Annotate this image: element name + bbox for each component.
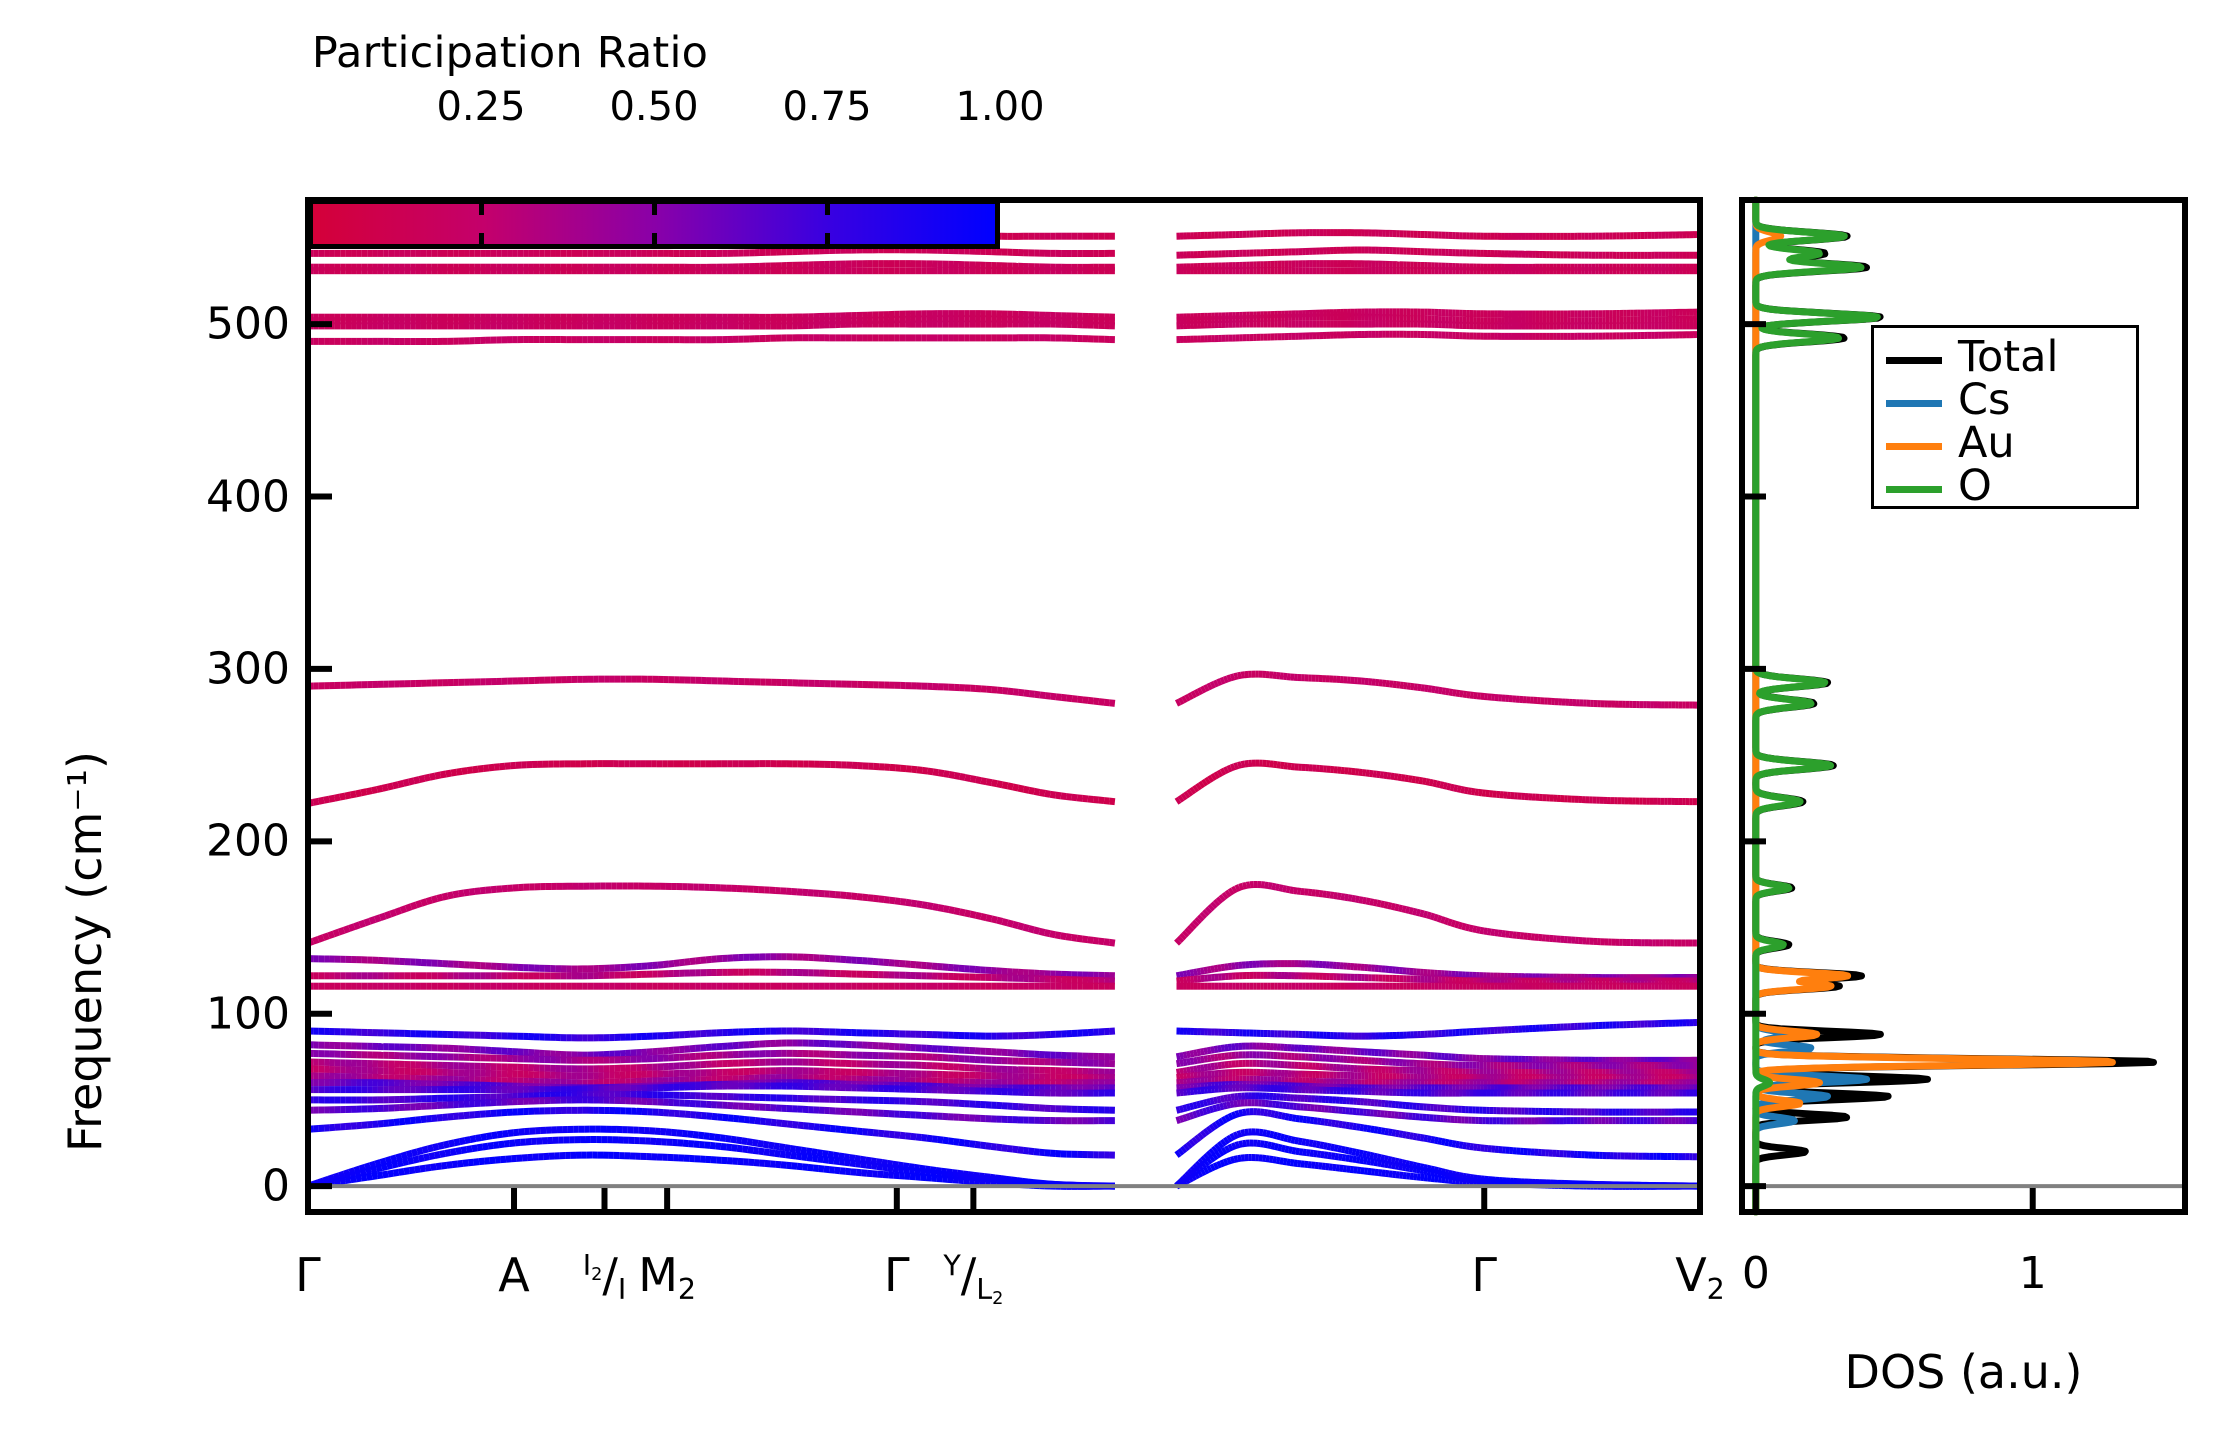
legend-swatch-icon [1886, 400, 1942, 407]
colorbar-tickmark [652, 204, 657, 215]
legend-label: Total [1958, 334, 2058, 380]
x-tick-M2: M2 [638, 1248, 696, 1306]
colorbar-tickmark [479, 204, 484, 215]
x-tick-Γ: Γ [884, 1248, 910, 1302]
legend-swatch-icon [1886, 443, 1942, 450]
legend-item-au[interactable]: Au [1886, 422, 2136, 468]
x-tick-Y/L2: Y/L2 [943, 1248, 1003, 1309]
colorbar-tick-1.00: 1.00 [955, 84, 1044, 130]
colorbar-tick-0.50: 0.50 [609, 84, 698, 130]
x-tick-V2: V2 [1675, 1248, 1725, 1306]
y-axis-label: Frequency (cm⁻¹) [58, 751, 112, 1152]
colorbar-tickmark [479, 233, 484, 244]
y-tick-500: 500 [140, 299, 290, 350]
colorbar-tickmark [825, 233, 830, 244]
x-tick-A: A [498, 1248, 529, 1302]
colorbar-title: Participation Ratio [140, 28, 880, 78]
legend-swatch-icon [1886, 357, 1942, 364]
colorbar-tickmark [652, 233, 657, 244]
y-tick-100: 100 [140, 988, 290, 1039]
legend-item-total[interactable]: Total [1886, 336, 2136, 382]
legend-label: O [1958, 463, 1992, 509]
colorbar-tickmark [825, 204, 830, 215]
y-tick-0: 0 [140, 1161, 290, 1212]
legend-label: Cs [1958, 377, 2010, 423]
x-tick-Γ: Γ [1471, 1248, 1497, 1302]
dos-x-tick-1: 1 [2019, 1248, 2047, 1299]
legend-swatch-icon [1886, 486, 1942, 493]
y-tick-300: 300 [140, 643, 290, 694]
legend-label: Au [1958, 420, 2015, 466]
dos-x-tick-0: 0 [1742, 1248, 1770, 1299]
colorbar-tick-0.75: 0.75 [782, 84, 871, 130]
colorbar-tick-labels: 0.250.500.751.00 [0, 84, 2222, 134]
dos-legend: TotalCsAuO [1871, 325, 2139, 509]
legend-item-o[interactable]: O [1886, 465, 2136, 511]
y-tick-400: 400 [140, 471, 290, 522]
dos-x-axis-label: DOS (a.u.) [1845, 1345, 2083, 1399]
y-tick-200: 200 [140, 816, 290, 867]
x-tick-I2/I: I2/I [583, 1248, 627, 1306]
colorbar-tick-0.25: 0.25 [436, 84, 525, 130]
x-tick-Γ: Γ [295, 1248, 321, 1302]
